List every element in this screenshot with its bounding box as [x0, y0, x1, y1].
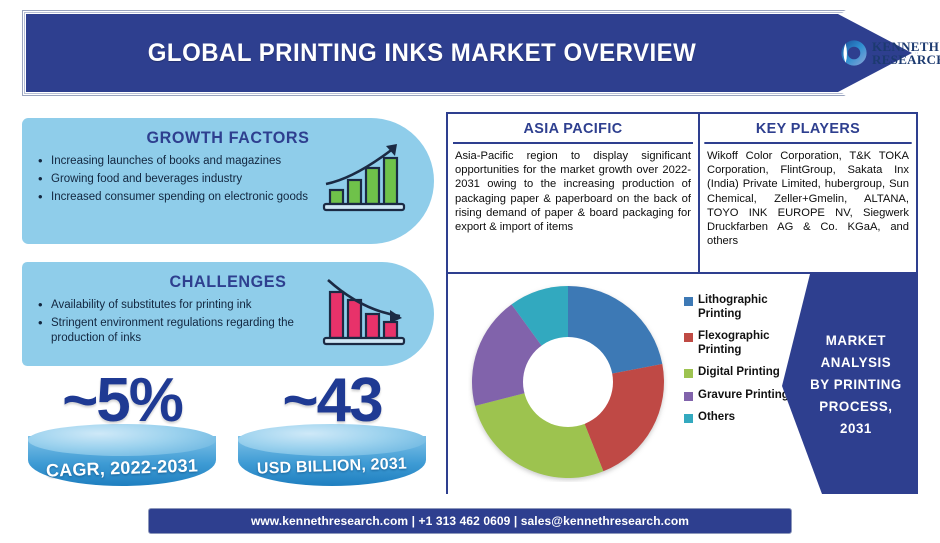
declining-bar-chart-icon [322, 278, 408, 352]
chart-legend: Lithographic Printing Flexographic Print… [684, 294, 804, 434]
legend-swatch-icon [684, 369, 693, 378]
footer-contact-bar: www.kennethresearch.com | +1 313 462 060… [148, 508, 792, 534]
stat-cagr: ~5% CAGR, 2022-2031 [22, 372, 222, 502]
printing-process-donut-chart [468, 282, 668, 482]
callout-line: PROCESS, [810, 395, 902, 417]
brand-logo: KENNETH RESEARCH [840, 32, 940, 74]
key-players-body: Wikoff Color Corporation, T&K TOKA Corpo… [700, 144, 916, 253]
legend-item-lithographic: Lithographic Printing [684, 294, 804, 321]
legend-swatch-icon [684, 333, 693, 342]
list-item: Stringent environment regulations regard… [36, 316, 336, 346]
market-analysis-callout: MARKET ANALYSIS BY PRINTING PROCESS, 203… [782, 274, 916, 494]
legend-label: Gravure Printing [698, 389, 789, 403]
list-item: Increasing launches of books and magazin… [36, 154, 336, 169]
asia-pacific-column: ASIA PACIFIC Asia-Pacific region to disp… [448, 114, 700, 274]
rising-bar-chart-icon [322, 140, 408, 214]
infographic-root: GLOBAL PRINTING INKS MARKET OVERVIEW KEN… [0, 0, 940, 543]
logo-wordmark: KENNETH RESEARCH [872, 40, 940, 66]
list-item: Increased consumer spending on electroni… [36, 190, 336, 205]
legend-label: Lithographic Printing [698, 294, 802, 321]
footer-text: www.kennethresearch.com | +1 313 462 060… [251, 514, 689, 528]
list-item: Availability of substitutes for printing… [36, 298, 336, 313]
asia-pacific-title: ASIA PACIFIC [453, 114, 693, 144]
legend-swatch-icon [684, 392, 693, 401]
asia-pacific-body: Asia-Pacific region to display significa… [448, 144, 698, 239]
callout-line: 2031 [810, 417, 902, 439]
legend-label: Flexographic Printing [698, 330, 802, 357]
legend-swatch-icon [684, 297, 693, 306]
key-players-column: KEY PLAYERS Wikoff Color Corporation, T&… [700, 114, 916, 274]
chart-area: Lithographic Printing Flexographic Print… [448, 274, 916, 494]
challenges-card: CHALLENGES Availability of substitutes f… [22, 262, 434, 366]
stat-value: ~5% [22, 370, 222, 432]
page-title: GLOBAL PRINTING INKS MARKET OVERVIEW [38, 10, 806, 96]
growth-factors-card: GROWTH FACTORS Increasing launches of bo… [22, 118, 434, 244]
callout-text: MARKET ANALYSIS BY PRINTING PROCESS, 203… [796, 329, 901, 439]
legend-label: Others [698, 411, 735, 425]
kenneth-research-swirl-icon [840, 39, 868, 67]
header-banner: GLOBAL PRINTING INKS MARKET OVERVIEW [22, 10, 918, 96]
callout-line: MARKET [810, 329, 902, 351]
callout-line: BY PRINTING [810, 373, 902, 395]
stat-value: ~43 [232, 370, 432, 432]
key-players-title: KEY PLAYERS [704, 114, 911, 144]
legend-item-flexographic: Flexographic Printing [684, 330, 804, 357]
legend-item-others: Others [684, 411, 804, 425]
legend-label: Digital Printing [698, 366, 780, 380]
list-item: Growing food and beverages industry [36, 172, 336, 187]
stat-market-size: ~43 USD BILLION, 2031 [232, 372, 432, 502]
callout-line: ANALYSIS [810, 351, 902, 373]
legend-swatch-icon [684, 414, 693, 423]
right-panel: ASIA PACIFIC Asia-Pacific region to disp… [446, 112, 918, 494]
logo-line-2: RESEARCH [872, 53, 940, 66]
panel-top-row: ASIA PACIFIC Asia-Pacific region to disp… [448, 114, 916, 274]
